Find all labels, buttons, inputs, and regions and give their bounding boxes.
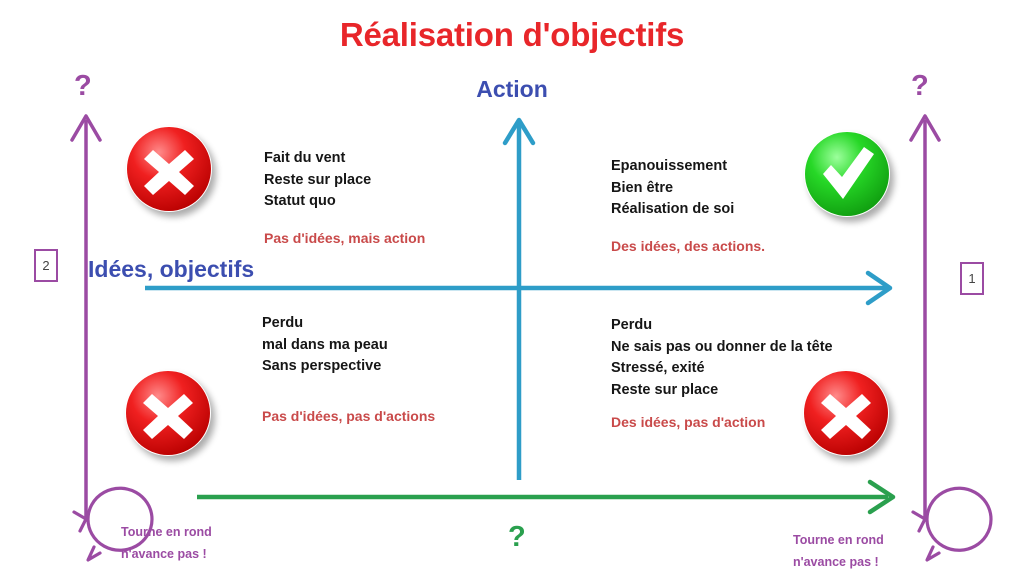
- quadrant-top-right-summary: Des idées, des actions.: [611, 238, 765, 254]
- loop-note-left-line2: n'avance pas !: [121, 544, 212, 566]
- quadrant-line: Statut quo: [264, 191, 425, 213]
- quadrant-line: Bien être: [611, 178, 765, 200]
- loop-note-right-line1: Tourne en rond: [793, 530, 884, 552]
- quadrant-line: Perdu: [262, 313, 435, 335]
- check-badge-top-right: [804, 131, 890, 217]
- quadrant-top-left-lines: Fait du vent Reste sur place Statut quo: [264, 148, 425, 213]
- page-title: Réalisation d'objectifs: [0, 16, 1024, 54]
- right-purple-arrow: [911, 116, 939, 520]
- quadrant-line: Stressé, exité: [611, 358, 833, 380]
- bottom-green-arrow: [197, 482, 893, 512]
- question-mark-left: ?: [74, 72, 92, 101]
- quadrant-top-left-summary: Pas d'idées, mais action: [264, 230, 425, 246]
- loop-note-right: Tourne en rond n'avance pas !: [793, 530, 884, 574]
- number-badge-right: 1: [960, 262, 984, 295]
- question-mark-right: ?: [911, 72, 929, 101]
- right-loop-arrow: [913, 488, 991, 560]
- quadrant-bottom-right-summary: Des idées, pas d'action: [611, 414, 833, 430]
- quadrant-top-left: Fait du vent Reste sur place Statut quo …: [264, 148, 425, 246]
- vertical-axis-label: Action: [0, 76, 1024, 103]
- quadrant-top-right: Epanouissement Bien être Réalisation de …: [611, 156, 765, 254]
- quadrant-line: Epanouissement: [611, 156, 765, 178]
- quadrant-line: Fait du vent: [264, 148, 425, 170]
- quadrant-bottom-left: Perdu mal dans ma peau Sans perspective …: [262, 313, 435, 424]
- quadrant-line: Ne sais pas ou donner de la tête: [611, 337, 833, 359]
- loop-note-left-line1: Tourne en rond: [121, 522, 212, 544]
- loop-note-right-line2: n'avance pas !: [793, 552, 884, 574]
- diagram-canvas: Réalisation d'objectifs Action Idées, ob…: [0, 0, 1024, 583]
- horizontal-axis-label: Idées, objectifs: [88, 256, 254, 283]
- quadrant-bottom-right-lines: Perdu Ne sais pas ou donner de la tête S…: [611, 315, 833, 401]
- quadrant-bottom-left-lines: Perdu mal dans ma peau Sans perspective: [262, 313, 435, 378]
- quadrant-line: Perdu: [611, 315, 833, 337]
- quadrant-line: Reste sur place: [611, 380, 833, 402]
- quadrant-line: Réalisation de soi: [611, 199, 765, 221]
- quadrant-bottom-right: Perdu Ne sais pas ou donner de la tête S…: [611, 315, 833, 430]
- quadrant-line: mal dans ma peau: [262, 335, 435, 357]
- quadrant-line: Sans perspective: [262, 356, 435, 378]
- quadrant-bottom-left-summary: Pas d'idées, pas d'actions: [262, 408, 435, 424]
- vertical-axis-arrow: [505, 120, 533, 480]
- x-badge-bottom-left: [125, 370, 211, 456]
- quadrant-top-right-lines: Epanouissement Bien être Réalisation de …: [611, 156, 765, 221]
- loop-note-left: Tourne en rond n'avance pas !: [121, 522, 212, 566]
- number-badge-left: 2: [34, 249, 58, 282]
- x-badge-top-left: [126, 126, 212, 212]
- left-purple-arrow: [72, 116, 100, 520]
- quadrant-line: Reste sur place: [264, 170, 425, 192]
- horizontal-axis-arrow: [145, 273, 890, 303]
- question-mark-bottom: ?: [508, 523, 526, 552]
